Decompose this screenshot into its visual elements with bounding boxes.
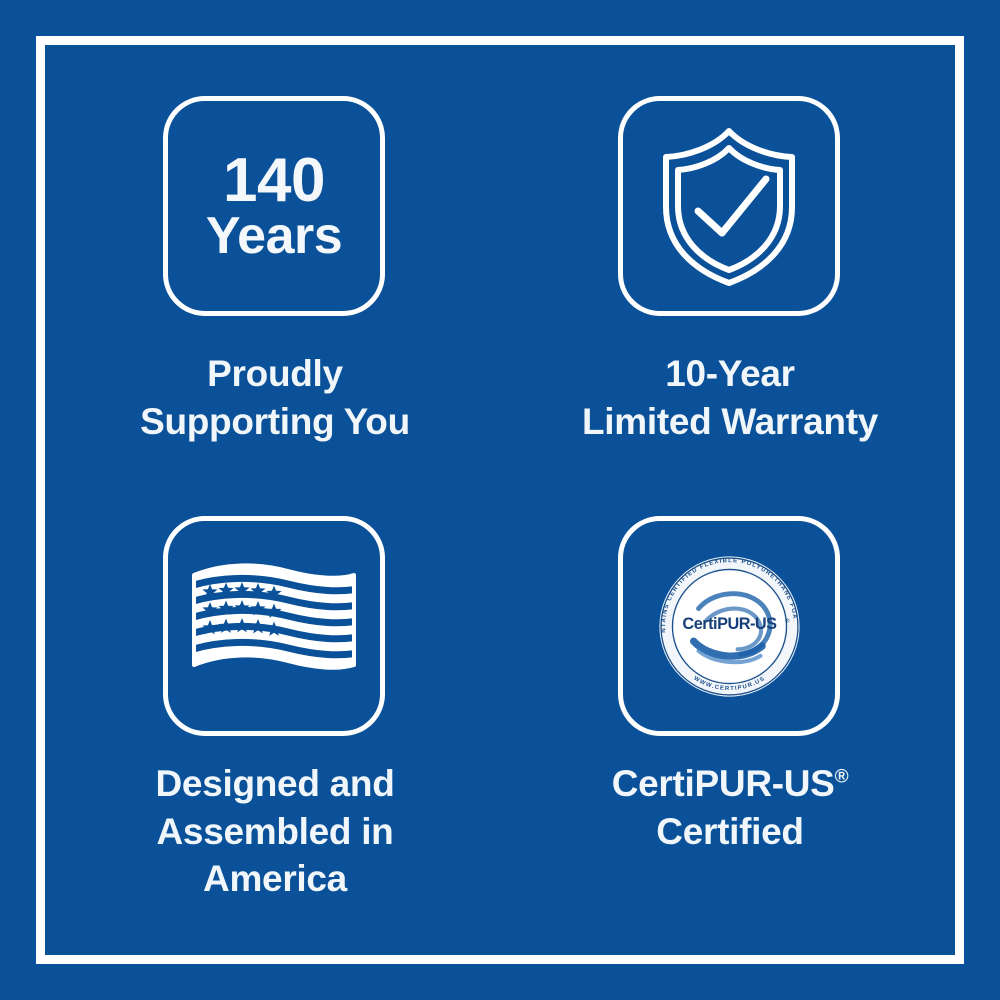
shield-check-icon xyxy=(644,121,814,291)
caption-proudly-supporting-you: Proudly Supporting You xyxy=(60,350,490,445)
certipur-us-seal-icon: CertiPUR-US ® CONTAINS CERTIFIED FLEXIBL… xyxy=(648,545,811,708)
rounded-square-140-years-icon: 140 Years xyxy=(163,96,385,316)
feature-panel: 140 Years Proudly Supporting You 10-Year… xyxy=(0,0,1000,1000)
seal-wordmark: CertiPUR-US xyxy=(682,614,777,632)
caption-designed-assembled-america: Designed and Assembled in America xyxy=(60,760,490,903)
years-number: 140 xyxy=(206,151,342,211)
certipur-icon-tile: CertiPUR-US ® CONTAINS CERTIFIED FLEXIBL… xyxy=(618,516,840,736)
caption-certipur-main: CertiPUR-US xyxy=(612,763,835,804)
usa-flag-icon xyxy=(188,561,360,691)
years-word: Years xyxy=(206,211,342,261)
caption-certipur-us-certified: CertiPUR-US®Certified xyxy=(515,760,945,855)
flag-icon-tile xyxy=(163,516,385,736)
caption-certipur-second-line: Certified xyxy=(656,811,803,852)
years-badge-text: 140 Years xyxy=(206,151,342,262)
caption-certipur-registered-mark: ® xyxy=(835,767,849,788)
warranty-icon-tile xyxy=(618,96,840,316)
caption-10-year-limited-warranty: 10-Year Limited Warranty xyxy=(515,350,945,445)
